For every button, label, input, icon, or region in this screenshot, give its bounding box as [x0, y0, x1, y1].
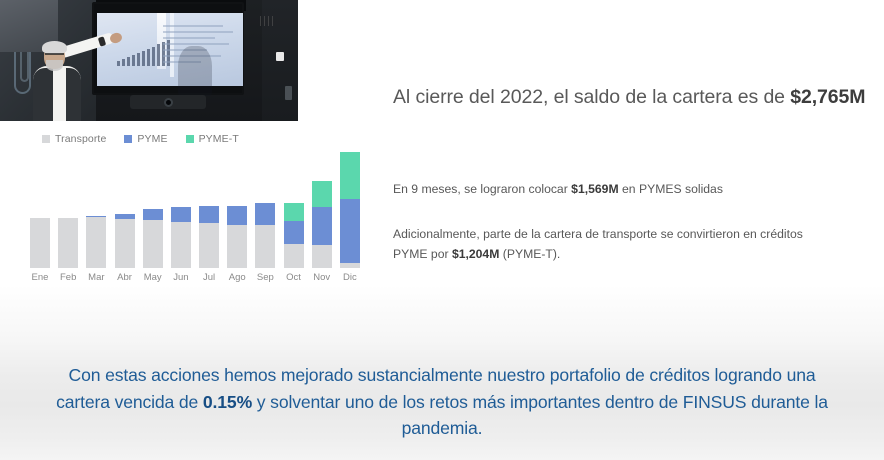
x-tick-label: Sep — [255, 272, 275, 283]
bar-column-feb[interactable] — [58, 152, 78, 268]
bar-segment-transporte — [312, 245, 332, 268]
bar-segment-transporte — [284, 244, 304, 268]
paragraph-2-amount: $1,204M — [452, 247, 499, 261]
bar-column-oct[interactable] — [284, 152, 304, 268]
chart-x-axis: EneFebMarAbrMayJunJulAgoSepOctNovDic — [30, 272, 360, 283]
photo-display-bezel — [92, 2, 244, 95]
paragraph-1-suffix: en PYMES solidas — [619, 182, 723, 196]
banner-highlight: 0.15% — [203, 392, 252, 412]
bar-column-ago[interactable] — [227, 152, 247, 268]
presenter-photo — [0, 0, 298, 121]
bar-column-abr[interactable] — [115, 152, 135, 268]
legend-label: PYME — [137, 133, 167, 145]
bar-segment-transporte — [143, 220, 163, 268]
legend-swatch-icon — [42, 135, 50, 143]
paragraph-1-amount: $1,569M — [571, 182, 618, 196]
bar-column-ene[interactable] — [30, 152, 50, 268]
photo-display-screen — [97, 13, 243, 86]
bar-segment-pyme — [312, 207, 332, 246]
bar-segment-transporte — [115, 219, 135, 268]
chart-plot-area — [30, 152, 360, 268]
bar-segment-pyme-t — [340, 152, 360, 199]
photo-wall-shadow — [178, 46, 212, 96]
paragraph-pyme-t: Adicionalmente, parte de la cartera de t… — [393, 225, 829, 265]
photo-person-vest-left — [33, 68, 53, 121]
bar-segment-transporte — [199, 223, 219, 268]
paragraph-1-prefix: En 9 meses, se lograron colocar — [393, 182, 571, 196]
bar-segment-transporte — [227, 225, 247, 268]
paragraph-2-suffix: (PYME-T). — [499, 247, 560, 261]
bar-column-mar[interactable] — [86, 152, 106, 268]
photo-person-beard — [46, 60, 63, 71]
bar-segment-transporte — [58, 218, 78, 268]
legend-swatch-icon — [124, 135, 132, 143]
bar-segment-transporte — [30, 218, 50, 268]
chart-legend: TransportePYMEPYME-T — [10, 130, 370, 148]
bar-segment-transporte — [340, 263, 360, 268]
bar-segment-pyme — [284, 221, 304, 244]
bar-segment-pyme-t — [284, 203, 304, 221]
photo-cable-secondary — [20, 52, 29, 82]
x-tick-label: Nov — [312, 272, 332, 283]
legend-label: PYME-T — [199, 133, 239, 145]
headline-amount: $2,765M — [790, 86, 865, 108]
bar-column-dic[interactable] — [340, 152, 360, 268]
legend-item-transporte[interactable]: Transporte — [42, 133, 106, 145]
x-tick-label: May — [143, 272, 163, 283]
bar-segment-pyme-t — [312, 181, 332, 206]
headline: Al cierre del 2022, el saldo de la carte… — [393, 85, 879, 110]
stacked-bar-chart: TransportePYMEPYME-T EneFebMarAbrMayJunJ… — [10, 130, 370, 300]
photo-wall-plate-2 — [285, 86, 292, 100]
legend-label: Transporte — [55, 133, 106, 145]
x-tick-label: Abr — [115, 272, 135, 283]
headline-prefix: Al cierre del 2022, el saldo de la carte… — [393, 86, 790, 108]
bar-segment-pyme — [199, 206, 219, 223]
bar-column-jun[interactable] — [171, 152, 191, 268]
bar-segment-pyme — [255, 203, 275, 225]
x-tick-label: Ago — [227, 272, 247, 283]
bar-segment-pyme — [227, 206, 247, 225]
x-tick-label: Jul — [199, 272, 219, 283]
x-tick-label: Oct — [284, 272, 304, 283]
bar-column-nov[interactable] — [312, 152, 332, 268]
legend-item-pyme[interactable]: PYME — [124, 133, 167, 145]
x-tick-label: Feb — [58, 272, 78, 283]
bar-segment-pyme — [171, 207, 191, 222]
bar-column-jul[interactable] — [199, 152, 219, 268]
bar-segment-pyme — [143, 209, 163, 219]
photo-wall-plate — [276, 52, 284, 61]
bar-segment-pyme — [340, 199, 360, 263]
bar-segment-transporte — [171, 222, 191, 268]
x-tick-label: Jun — [171, 272, 191, 283]
paragraph-pymes: En 9 meses, se lograron colocar $1,569M … — [393, 180, 829, 200]
conclusion-banner: Con estas acciones hemos mejorado sustan… — [0, 362, 884, 442]
banner-suffix: y solventar uno de los retos más importa… — [252, 392, 828, 439]
bar-segment-transporte — [86, 217, 106, 268]
photo-wall-texture — [260, 16, 276, 26]
photo-person-glasses — [45, 53, 64, 58]
camera-lens-icon — [164, 98, 173, 107]
bar-segment-transporte — [255, 225, 275, 268]
bar-column-may[interactable] — [143, 152, 163, 268]
x-tick-label: Ene — [30, 272, 50, 283]
photo-person-vest-right — [66, 68, 81, 121]
x-tick-label: Mar — [86, 272, 106, 283]
legend-swatch-icon — [186, 135, 194, 143]
x-tick-label: Dic — [340, 272, 360, 283]
bar-column-sep[interactable] — [255, 152, 275, 268]
legend-item-pyme-t[interactable]: PYME-T — [186, 133, 239, 145]
